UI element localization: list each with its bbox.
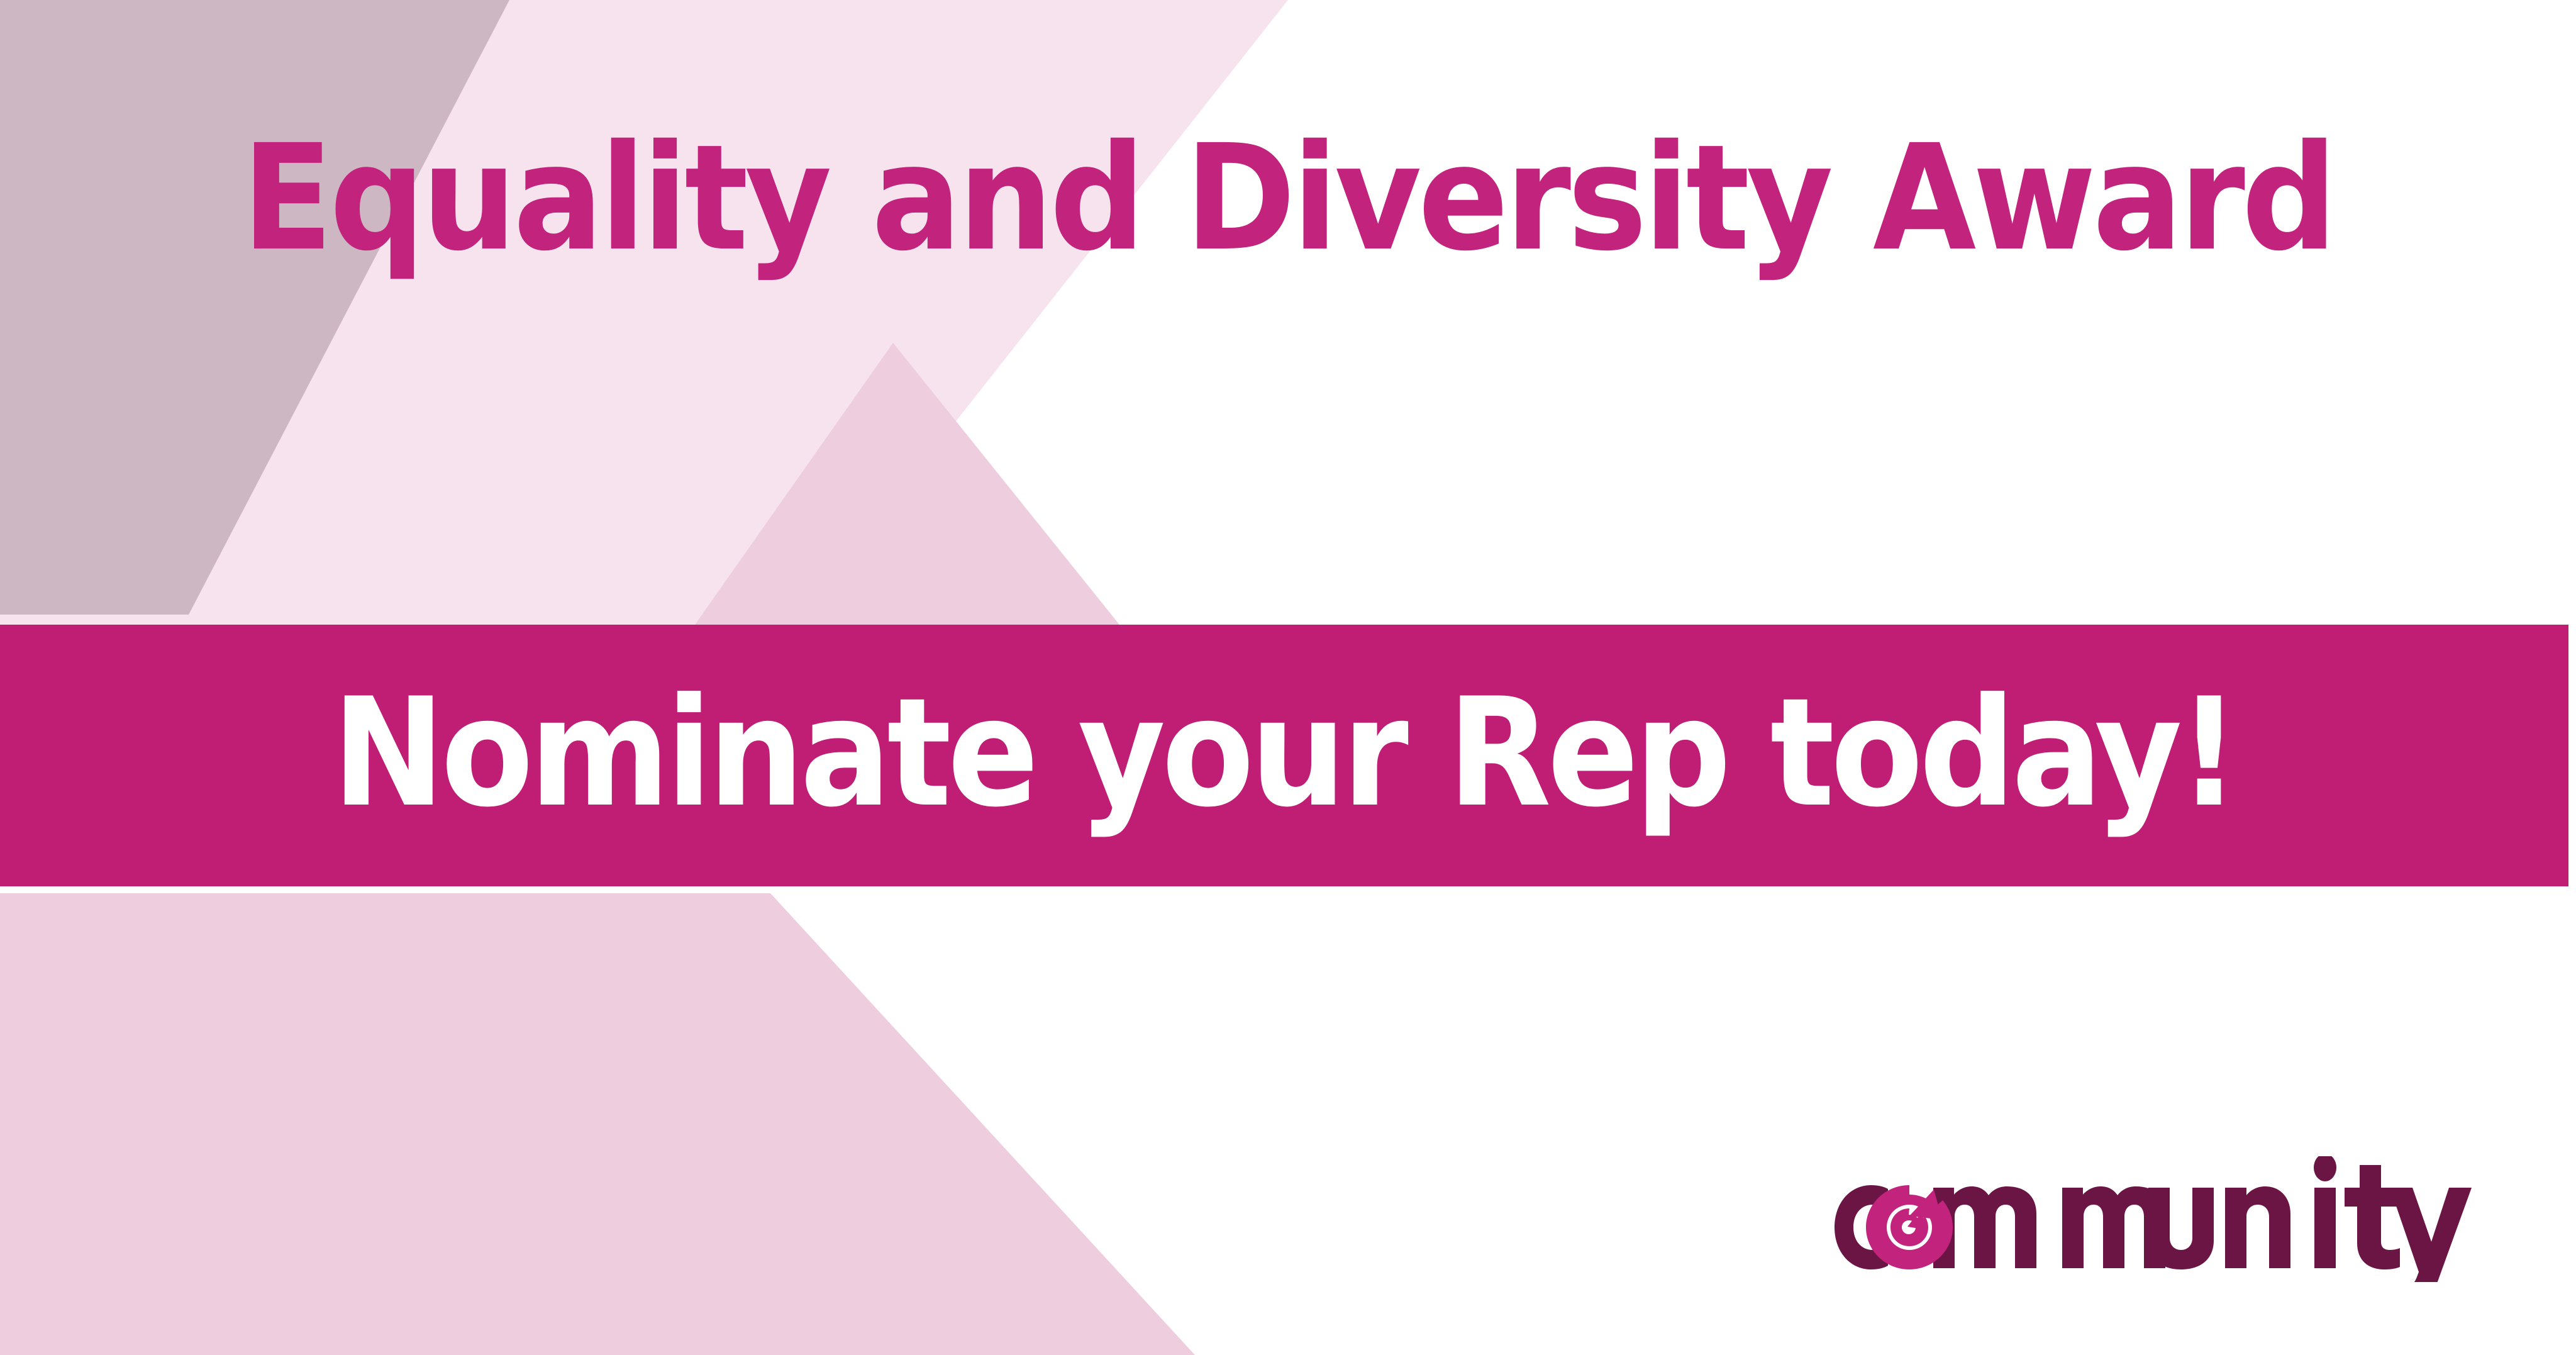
community-logo: community bbox=[1811, 1156, 2516, 1282]
promotional-banner: Equality and Diversity Award Nominate yo… bbox=[0, 0, 2576, 1355]
page-title: Equality and Diversity Award bbox=[242, 125, 2334, 271]
community-logo-svg bbox=[1811, 1156, 2516, 1282]
cta-text: Nominate your Rep today! bbox=[333, 679, 2236, 828]
headline-row: Equality and Diversity Award bbox=[0, 94, 2576, 302]
cta-band: Nominate your Rep today! bbox=[0, 625, 2568, 886]
